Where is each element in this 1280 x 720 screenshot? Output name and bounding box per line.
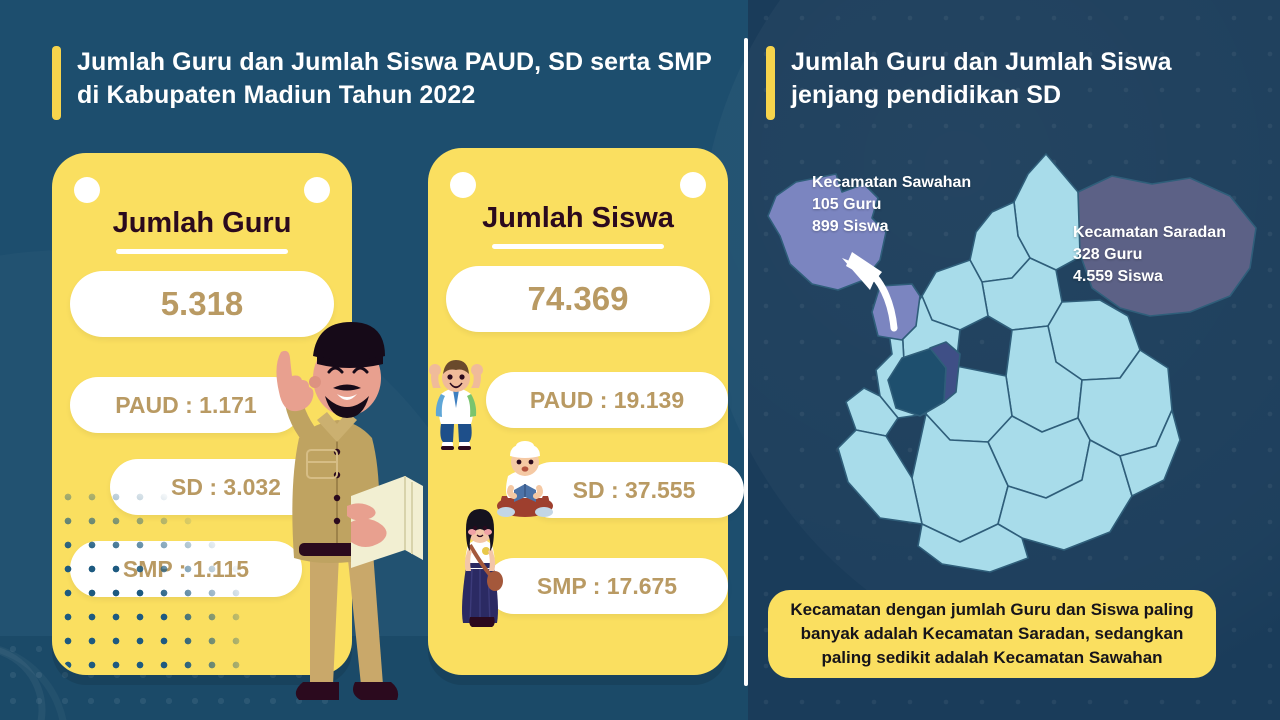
panel-divider <box>744 38 748 686</box>
map-region <box>838 430 922 524</box>
title-accent-bar-right <box>766 46 775 120</box>
card-siswa-total-value: 74.369 <box>446 266 710 332</box>
card-punch-hole-left <box>450 172 476 198</box>
map-label-saradan-guru: 328 Guru <box>1073 244 1273 266</box>
map-label-sawahan-guru: 105 Guru <box>812 194 1032 216</box>
card-siswa-heading: Jumlah Siswa <box>428 202 728 235</box>
map-caption-box: Kecamatan dengan jumlah Guru dan Siswa p… <box>768 590 1216 678</box>
card-guru-underline <box>116 249 288 254</box>
map-label-saradan: Kecamatan Saradan 328 Guru 4.559 Siswa <box>1073 222 1273 288</box>
map-label-sawahan-name: Kecamatan Sawahan <box>812 172 1032 194</box>
card-guru-heading: Jumlah Guru <box>52 207 352 240</box>
card-siswa-row-smp: SMP : 17.675 <box>486 558 728 614</box>
card-siswa-underline <box>492 244 664 249</box>
left-panel-title: Jumlah Guru dan Jumlah Siswa PAUD, SD se… <box>77 46 712 120</box>
card-punch-hole-right <box>680 172 706 198</box>
card-punch-hole-left <box>74 177 100 203</box>
right-title-block: Jumlah Guru dan Jumlah Siswa jenjang pen… <box>766 46 1236 120</box>
map-label-saradan-name: Kecamatan Saradan <box>1073 222 1273 244</box>
infographic-canvas: Jumlah Guru dan Jumlah Siswa PAUD, SD se… <box>0 0 1280 720</box>
student-girl-illustration <box>450 505 510 635</box>
card-punch-hole-right <box>304 177 330 203</box>
right-panel-title: Jumlah Guru dan Jumlah Siswa jenjang pen… <box>791 46 1236 120</box>
map-label-saradan-siswa: 4.559 Siswa <box>1073 266 1273 288</box>
student-boy-cheering-illustration <box>425 358 487 450</box>
left-title-block: Jumlah Guru dan Jumlah Siswa PAUD, SD se… <box>52 46 712 120</box>
card-siswa-row-paud: PAUD : 19.139 <box>486 372 728 428</box>
map-label-sawahan-siswa: 899 Siswa <box>812 216 1032 238</box>
title-accent-bar-left <box>52 46 61 120</box>
teacher-illustration <box>255 300 430 720</box>
map-label-sawahan: Kecamatan Sawahan 105 Guru 899 Siswa <box>812 172 1032 238</box>
